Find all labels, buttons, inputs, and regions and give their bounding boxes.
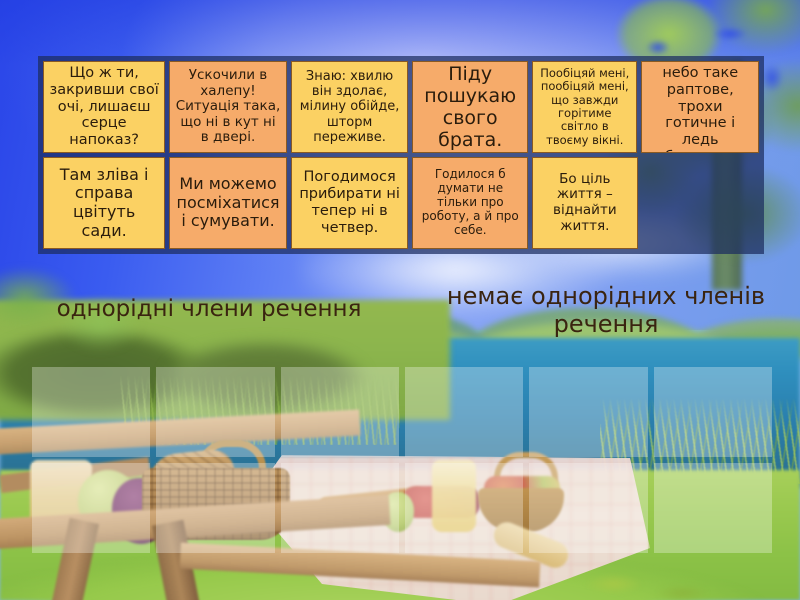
tile-row-1: Що ж ти, закривши свої очі, лишаєш серце… xyxy=(43,61,759,153)
drop-cell[interactable] xyxy=(654,463,772,553)
category-label-left: однорідні члени речення xyxy=(24,296,394,323)
word-tile[interactable]: Бо ціль життя – віднайти життя. xyxy=(532,157,637,249)
word-tile[interactable]: Що ж ти, закривши свої очі, лишаєш серце… xyxy=(43,61,165,153)
word-tile[interactable]: Піду пошукаю свого брата. xyxy=(412,61,528,153)
drop-cell[interactable] xyxy=(654,367,772,457)
drop-cell[interactable] xyxy=(405,463,523,553)
drop-cell[interactable] xyxy=(281,367,399,457)
word-tile[interactable]: Там зліва і справа цвітуть сади. xyxy=(43,157,165,249)
category-label-right: немає однорідних членів речення xyxy=(420,282,792,339)
drop-cell[interactable] xyxy=(529,463,647,553)
tile-row-2: Там зліва і справа цвітуть сади. Ми може… xyxy=(43,157,759,249)
drop-zone-grid xyxy=(32,367,772,553)
word-tile-empty-slot xyxy=(642,157,759,249)
word-tile[interactable]: Ми можемо посміхатися і сумувати. xyxy=(169,157,287,249)
word-tile[interactable]: Знаю: хвилю він здолає, мілину обійде, ш… xyxy=(291,61,409,153)
drop-cell[interactable] xyxy=(405,367,523,457)
drop-cell[interactable] xyxy=(529,367,647,457)
activity-stage: Що ж ти, закривши свої очі, лишаєш серце… xyxy=(0,0,800,600)
foreground-sprig xyxy=(560,560,740,600)
word-tile[interactable]: Сьогодні небо таке раптове, трохи готичн… xyxy=(641,61,759,153)
word-tile[interactable]: Ускочили в халепу! Ситуація така, що ні … xyxy=(169,61,287,153)
drop-cell[interactable] xyxy=(281,463,399,553)
drop-cell[interactable] xyxy=(156,367,274,457)
drop-cell[interactable] xyxy=(156,463,274,553)
word-tile[interactable]: Пообіцяй мені, пообіцяй мені, що завжди … xyxy=(532,61,637,153)
word-tile[interactable]: Годилося б думати не тільки про роботу, … xyxy=(412,157,528,249)
word-tile[interactable]: Погодимося прибирати ні тепер ні в четве… xyxy=(291,157,409,249)
word-tiles-panel: Що ж ти, закривши свої очі, лишаєш серце… xyxy=(38,56,764,254)
drop-cell[interactable] xyxy=(32,367,150,457)
drop-cell[interactable] xyxy=(32,463,150,553)
